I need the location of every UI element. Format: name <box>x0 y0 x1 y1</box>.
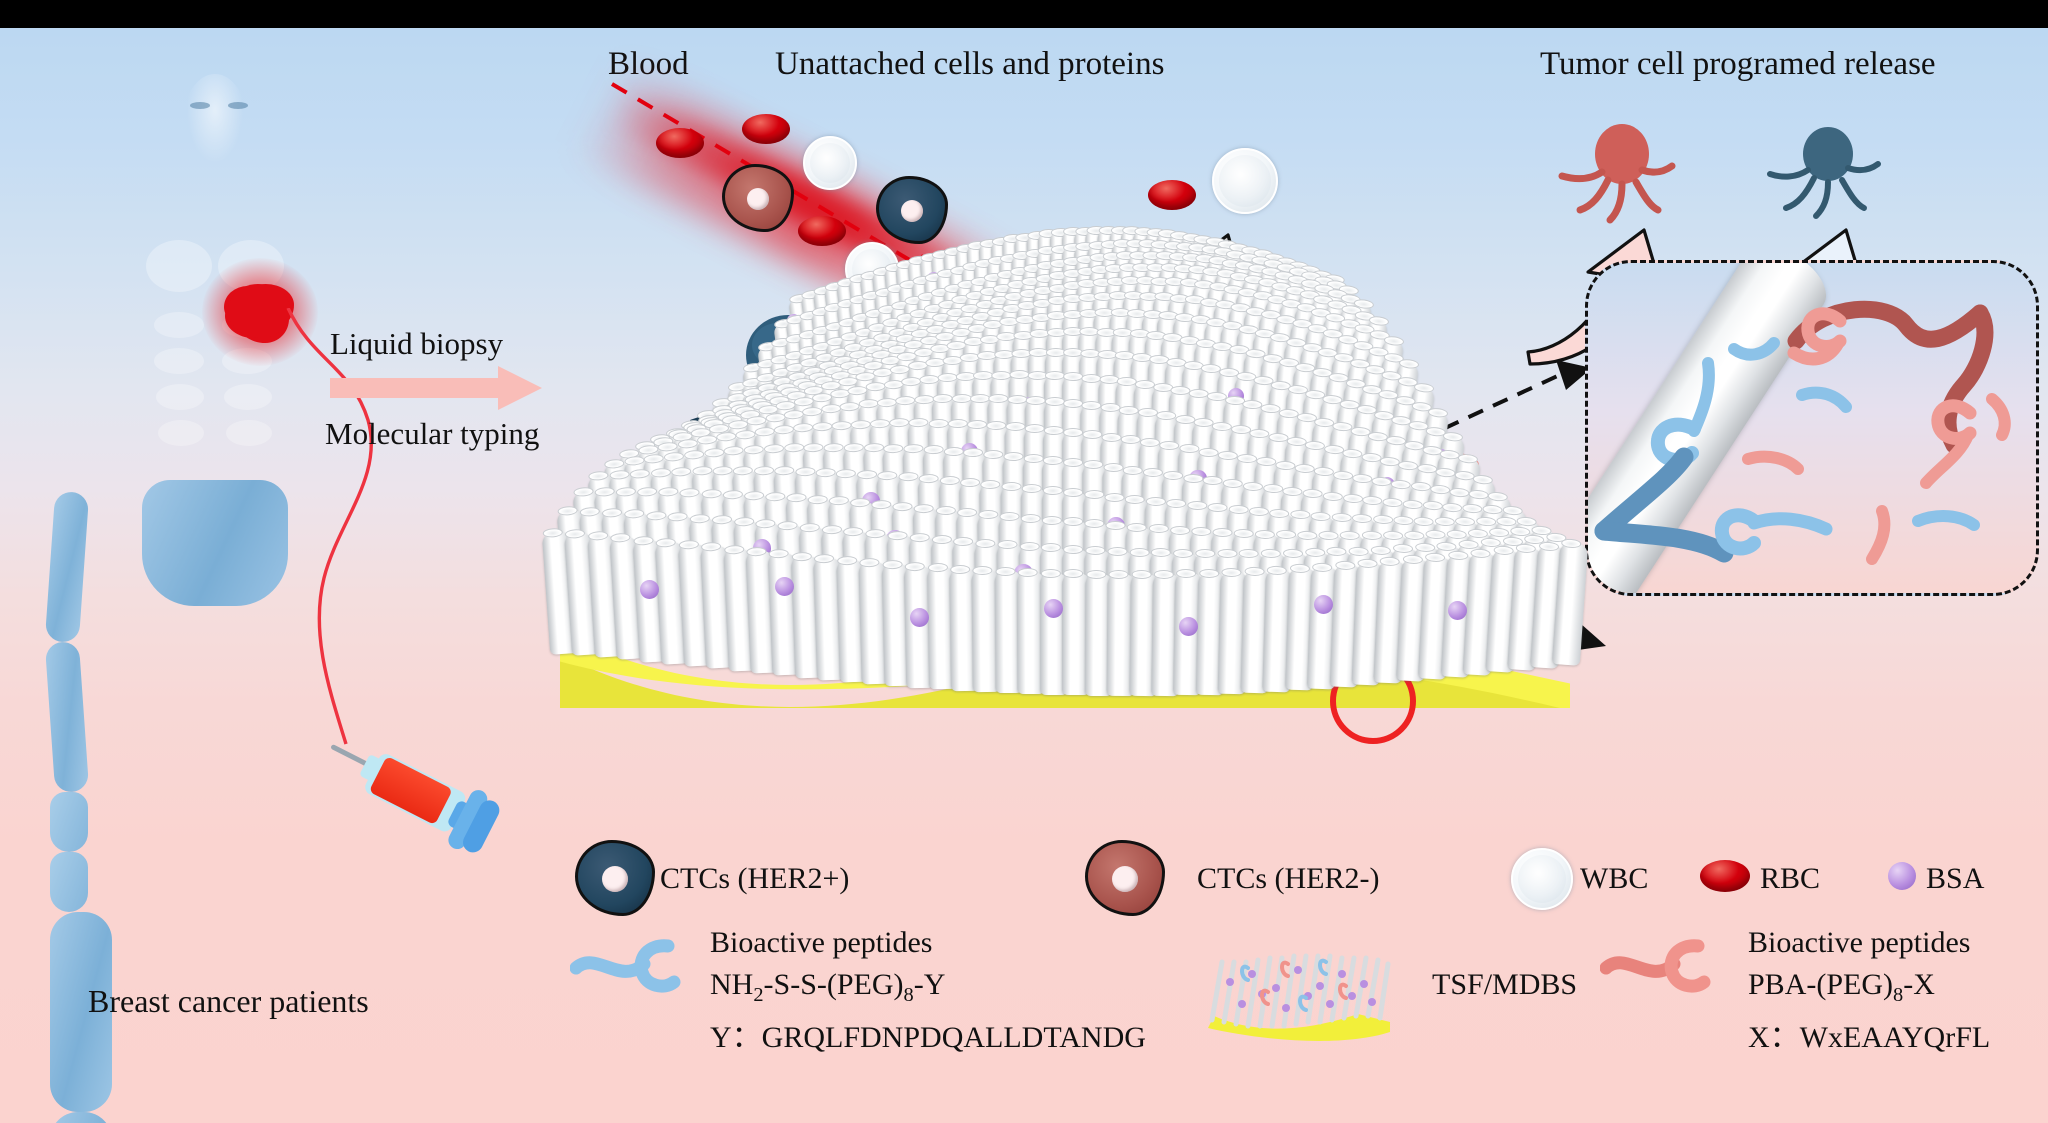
nanotube-detail-inset <box>1585 260 2039 596</box>
peg-mid: -S-S-(PEG) <box>764 968 904 1001</box>
legend-icon-tsf-mdbs <box>1190 936 1420 1046</box>
legend-label-wbc: WBC <box>1580 862 1648 896</box>
abdominal-1l <box>154 312 204 338</box>
legend-label-peptide-blue-title: Bioactive peptides <box>710 926 932 960</box>
pectoral-left <box>146 240 212 292</box>
unattached-wbc-icon <box>1212 148 1278 214</box>
rbc-icon <box>742 114 790 144</box>
label-molecular-typing: Molecular typing <box>325 416 539 452</box>
process-arrow <box>328 366 548 416</box>
nh-subscript: 2 <box>753 984 763 1006</box>
legend-icon-peptide-red <box>1600 934 1740 994</box>
ctc-nucleus <box>901 200 923 222</box>
released-ctc-her2-positive <box>1762 118 1892 228</box>
pba-suffix: -X <box>1903 968 1935 1001</box>
thigh-right <box>50 1112 112 1123</box>
ctc-nucleus <box>1112 866 1138 892</box>
bsa-bead <box>1314 595 1333 614</box>
peg-subscript: 8 <box>904 984 914 1006</box>
legend-icon-bsa <box>1888 862 1916 890</box>
forearm-right <box>45 641 89 793</box>
legend-label-peptide-red-sequence: X：WxEAAYQrFL <box>1748 1012 1990 1056</box>
figure-root: Blood Unattached cells and proteins Tumo… <box>0 0 2048 1123</box>
figure-legend: CTCs (HER2+) CTCs (HER2-) WBC RBC BSA Bi… <box>0 816 2048 1096</box>
unattached-rbc-icon <box>1148 180 1196 210</box>
released-ctc-her2-negative <box>1554 114 1684 234</box>
inset-peptide-network <box>1588 263 2036 593</box>
arm-right <box>38 259 102 494</box>
legend-icon-rbc <box>1700 860 1750 892</box>
legend-icon-wbc <box>1511 848 1573 910</box>
bsa-bead <box>1044 599 1063 618</box>
legend-label-rbc: RBC <box>1760 862 1820 896</box>
legend-icon-ctc-her2-positive <box>575 840 655 916</box>
eye-right <box>228 102 248 109</box>
legend-icon-peptide-blue <box>570 934 700 994</box>
legend-label-ctc-her2-positive: CTCs (HER2+) <box>660 862 849 896</box>
ctc-nucleus <box>602 866 628 892</box>
header-tumor-release: Tumor cell programed release <box>1540 46 1936 83</box>
legend-label-ctc-her2-negative: CTCs (HER2-) <box>1197 862 1380 896</box>
abdominal-3l <box>156 384 204 410</box>
abdominal-2l <box>154 348 204 374</box>
rbc-icon <box>656 128 704 158</box>
ctc-nucleus <box>747 188 769 210</box>
abdominal-4l <box>158 420 204 446</box>
legend-label-bsa: BSA <box>1926 862 1984 896</box>
forearm-left <box>45 491 89 643</box>
pba-prefix: PBA-(PEG) <box>1748 968 1893 1001</box>
wbc-icon <box>803 136 857 190</box>
peg-suffix: -Y <box>914 968 946 1001</box>
legend-icon-ctc-her2-negative <box>1085 840 1165 916</box>
eye-left <box>190 102 210 109</box>
bsa-bead <box>640 580 659 599</box>
nh-prefix: NH <box>710 968 753 1001</box>
label-liquid-biopsy: Liquid biopsy <box>330 326 503 362</box>
arm-left <box>38 28 102 261</box>
legend-label-peptide-blue-formula: NH2-S-S-(PEG)8-Y <box>710 968 945 1007</box>
legend-label-tsf-mdbs: TSF/MDBS <box>1432 968 1577 1002</box>
legend-label-peptide-blue-sequence: Y：GRQLFDNPDQALLDTANDG <box>710 1012 1146 1056</box>
rbc-icon <box>798 216 846 246</box>
legend-label-peptide-red-formula: PBA-(PEG)8-X <box>1748 968 1935 1007</box>
bsa-bead <box>910 608 929 627</box>
pba-subscript: 8 <box>1893 984 1903 1006</box>
legend-label-peptide-red-title: Bioactive peptides <box>1748 926 1970 960</box>
face-shading <box>183 74 247 170</box>
